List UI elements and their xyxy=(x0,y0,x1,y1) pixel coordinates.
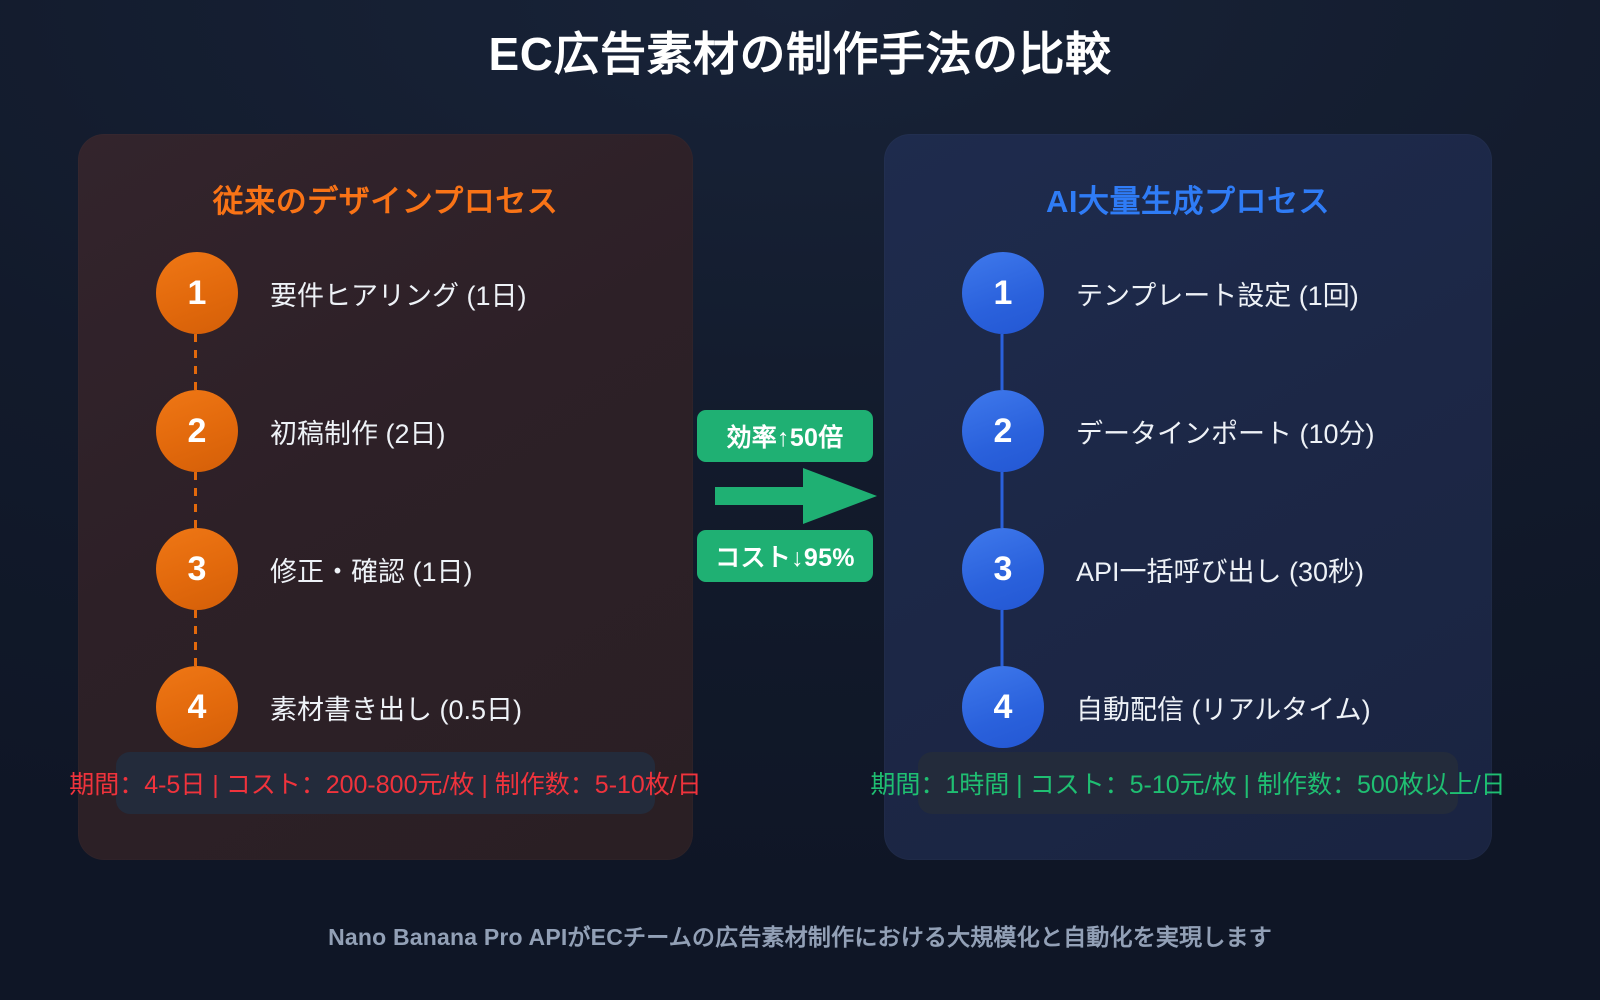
step-number-badge: 2 xyxy=(156,390,238,472)
step-connector-3-4 xyxy=(194,610,198,666)
ai-step-list: 1 テンプレート設定 (1回) 2 データインポート (10分) 3 API一括… xyxy=(884,252,1492,772)
step-number-badge: 2 xyxy=(962,390,1044,472)
step-number-badge: 1 xyxy=(156,252,238,334)
step-connector-2-3 xyxy=(194,472,198,528)
ai-process-panel: AI大量生成プロセス 1 テンプレート設定 (1回) 2 データインポート (1… xyxy=(884,134,1492,860)
step-connector-1-2 xyxy=(194,334,198,390)
traditional-process-panel: 従来のデザインプロセス 1 要件ヒアリング (1日) 2 初稿制作 (2日) 3… xyxy=(78,134,693,860)
step-label: 自動配信 (リアルタイム) xyxy=(1076,688,1371,727)
ai-panel-heading: AI大量生成プロセス xyxy=(884,176,1492,221)
page-title: EC広告素材の制作手法の比較 xyxy=(0,18,1600,84)
step-item-1[interactable]: 1 テンプレート設定 (1回) xyxy=(962,252,1359,334)
step-number-badge: 4 xyxy=(962,666,1044,748)
step-label: 要件ヒアリング (1日) xyxy=(270,274,527,313)
ai-metrics-bar: 期間：1時間 | コスト：5-10元/枚 | 制作数：500枚以上/日 xyxy=(918,752,1458,814)
cost-badge: コスト↓95% xyxy=(697,530,873,582)
traditional-metrics-bar: 期間：4-5日 | コスト：200-800元/枚 | 制作数：5-10枚/日 xyxy=(116,752,655,814)
step-label: API一括呼び出し (30秒) xyxy=(1076,550,1364,589)
step-item-4[interactable]: 4 自動配信 (リアルタイム) xyxy=(962,666,1371,748)
step-item-4[interactable]: 4 素材書き出し (0.5日) xyxy=(156,666,522,748)
step-item-3[interactable]: 3 API一括呼び出し (30秒) xyxy=(962,528,1364,610)
step-number-badge: 1 xyxy=(962,252,1044,334)
step-label: 修正・確認 (1日) xyxy=(270,550,473,589)
step-item-3[interactable]: 3 修正・確認 (1日) xyxy=(156,528,473,610)
footer-caption: Nano Banana Pro APIがECチームの広告素材制作における大規模化… xyxy=(0,918,1600,952)
ai-metrics-text: 期間：1時間 | コスト：5-10元/枚 | 制作数：500枚以上/日 xyxy=(870,765,1505,801)
comparison-callout: 効率↑50倍 コスト↓95% xyxy=(697,410,873,582)
traditional-step-list: 1 要件ヒアリング (1日) 2 初稿制作 (2日) 3 修正・確認 (1日) … xyxy=(78,252,693,772)
step-connector-2-3 xyxy=(1001,472,1004,528)
step-number-badge: 3 xyxy=(962,528,1044,610)
right-arrow-icon xyxy=(715,466,891,526)
step-number-badge: 4 xyxy=(156,666,238,748)
traditional-panel-heading: 従来のデザインプロセス xyxy=(78,176,693,221)
step-label: テンプレート設定 (1回) xyxy=(1076,274,1359,313)
step-connector-1-2 xyxy=(1001,334,1004,390)
step-item-2[interactable]: 2 データインポート (10分) xyxy=(962,390,1375,472)
step-connector-3-4 xyxy=(1001,610,1004,666)
step-item-2[interactable]: 2 初稿制作 (2日) xyxy=(156,390,446,472)
step-number-badge: 3 xyxy=(156,528,238,610)
step-label: 素材書き出し (0.5日) xyxy=(270,688,522,727)
step-item-1[interactable]: 1 要件ヒアリング (1日) xyxy=(156,252,527,334)
traditional-metrics-text: 期間：4-5日 | コスト：200-800元/枚 | 制作数：5-10枚/日 xyxy=(69,765,702,801)
step-label: 初稿制作 (2日) xyxy=(270,412,446,451)
efficiency-badge: 効率↑50倍 xyxy=(697,410,873,462)
step-label: データインポート (10分) xyxy=(1076,412,1375,451)
